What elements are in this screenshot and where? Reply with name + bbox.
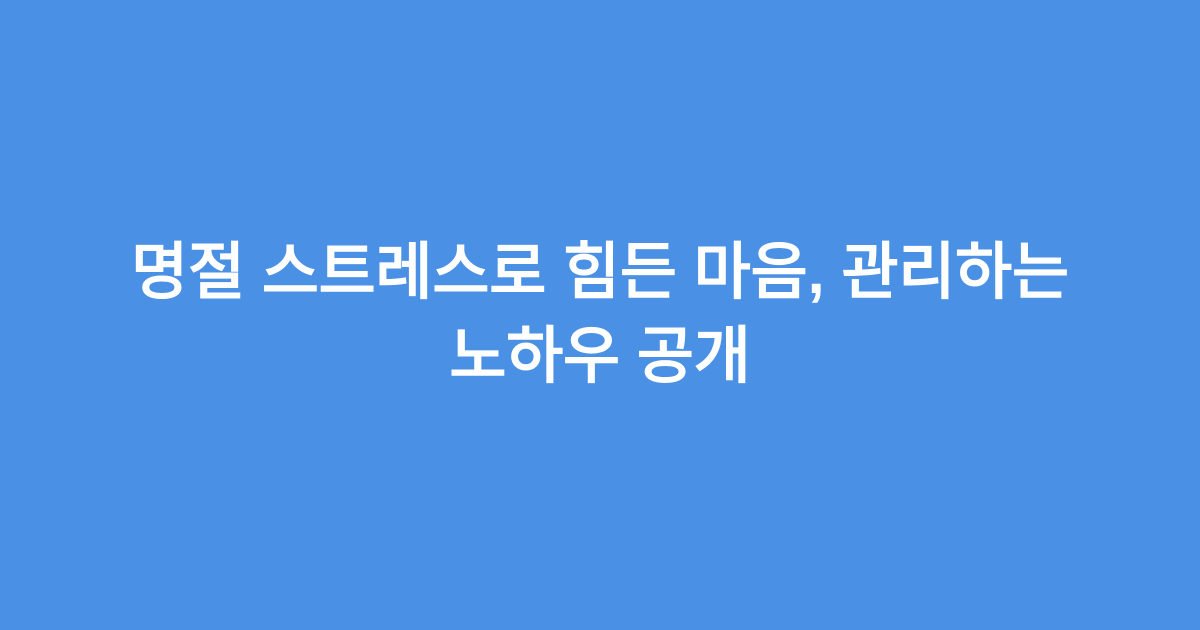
page-title: 명절 스트레스로 힘든 마음, 관리하는 노하우 공개 bbox=[131, 231, 1069, 399]
headline-block: 명절 스트레스로 힘든 마음, 관리하는 노하우 공개 bbox=[60, 231, 1140, 399]
og-image-card: 명절 스트레스로 힘든 마음, 관리하는 노하우 공개 bbox=[0, 0, 1200, 630]
